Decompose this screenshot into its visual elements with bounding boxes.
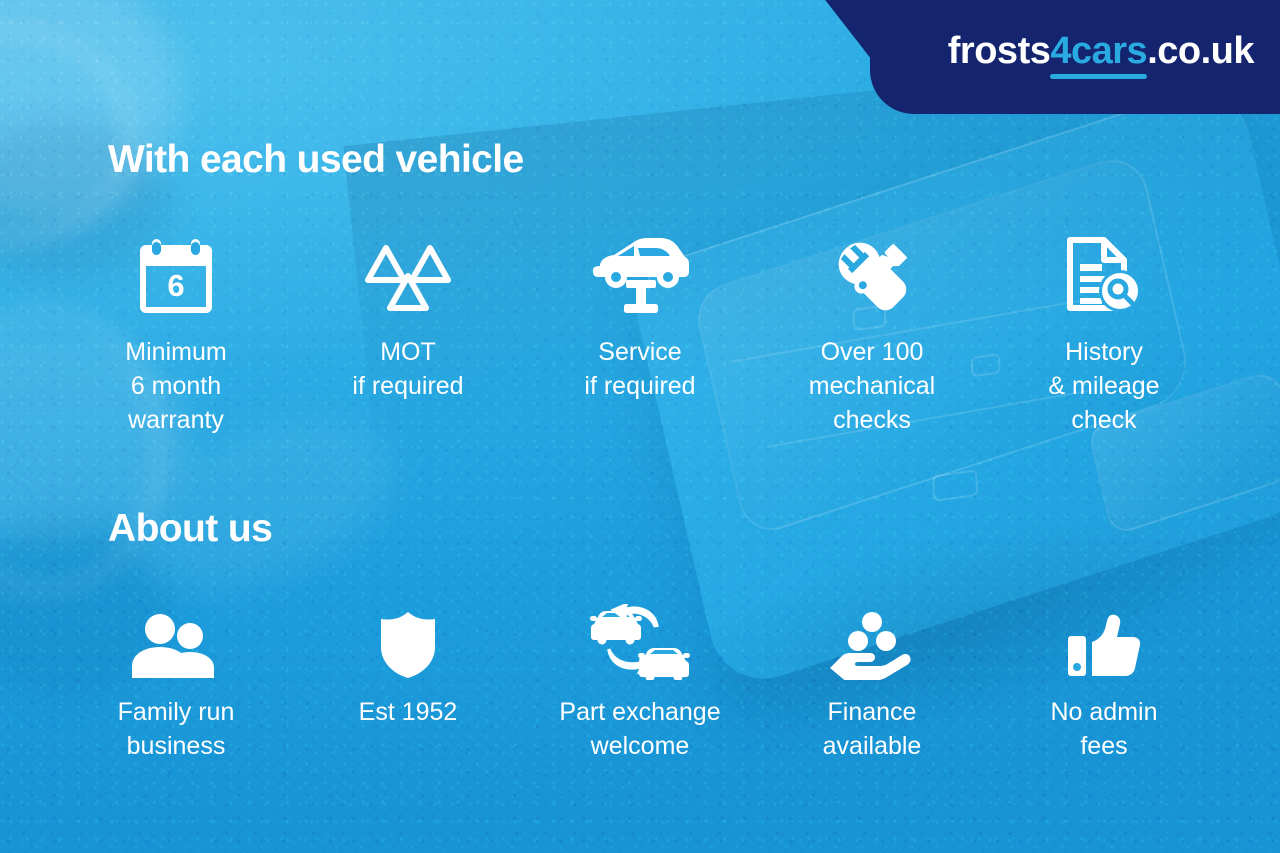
- features-row-about-us: Family run business Est 1952: [60, 600, 1220, 764]
- feature-item-history-check: History & mileage check: [988, 228, 1220, 437]
- logo-text-4cars: 4cars: [1050, 30, 1147, 72]
- feature-item-mechanical-checks: Over 100 mechanical checks: [756, 228, 988, 437]
- about-label: Est 1952: [359, 696, 458, 730]
- feature-label: MOT if required: [352, 336, 463, 404]
- feature-item-warranty: 6 Minimum 6 month warranty: [60, 228, 292, 437]
- about-label: Family run business: [118, 696, 235, 764]
- calendar-6-icon: 6: [135, 228, 217, 316]
- hand-coins-icon: [826, 600, 918, 680]
- mot-triangles-icon: [360, 228, 456, 316]
- car-on-lift-icon: [588, 228, 692, 316]
- logo-accent-text: 4cars: [1050, 30, 1147, 72]
- about-item-part-exchange: Part exchange welcome: [524, 600, 756, 764]
- logo-text-couk: .co.uk: [1147, 30, 1254, 72]
- about-item-family-run: Family run business: [60, 600, 292, 764]
- wrench-screwdriver-icon: [826, 228, 918, 316]
- about-item-no-admin-fees: No admin fees: [988, 600, 1220, 764]
- two-people-icon: [130, 600, 222, 680]
- logo-text-frosts: frosts: [948, 30, 1051, 72]
- about-label: Finance available: [823, 696, 922, 764]
- document-search-icon: [1062, 228, 1146, 316]
- feature-item-service: Service if required: [524, 228, 756, 437]
- calendar-badge-number: 6: [167, 268, 184, 303]
- about-label: Part exchange welcome: [559, 696, 720, 764]
- about-item-finance: Finance available: [756, 600, 988, 764]
- feature-item-mot: MOT if required: [292, 228, 524, 437]
- feature-label: Over 100 mechanical checks: [809, 336, 935, 437]
- features-row-used-vehicle: 6 Minimum 6 month warranty MOT if requir…: [60, 228, 1220, 437]
- part-exchange-cars-icon: [588, 600, 692, 680]
- page-content: With each used vehicle 6 Minimum 6 month…: [0, 0, 1280, 853]
- feature-label: Minimum 6 month warranty: [125, 336, 226, 437]
- about-item-established: Est 1952: [292, 600, 524, 764]
- section-title-about-us: About us: [108, 507, 272, 551]
- thumbs-up-icon: [1064, 600, 1144, 680]
- logo-underline-swoosh: [1050, 74, 1147, 79]
- feature-label: History & mileage check: [1048, 336, 1159, 437]
- site-logo[interactable]: frosts4cars.co.uk: [948, 30, 1254, 73]
- feature-label: Service if required: [584, 336, 695, 404]
- section-title-used-vehicle: With each used vehicle: [108, 138, 524, 182]
- shield-icon: [377, 600, 439, 680]
- about-label: No admin fees: [1051, 696, 1158, 764]
